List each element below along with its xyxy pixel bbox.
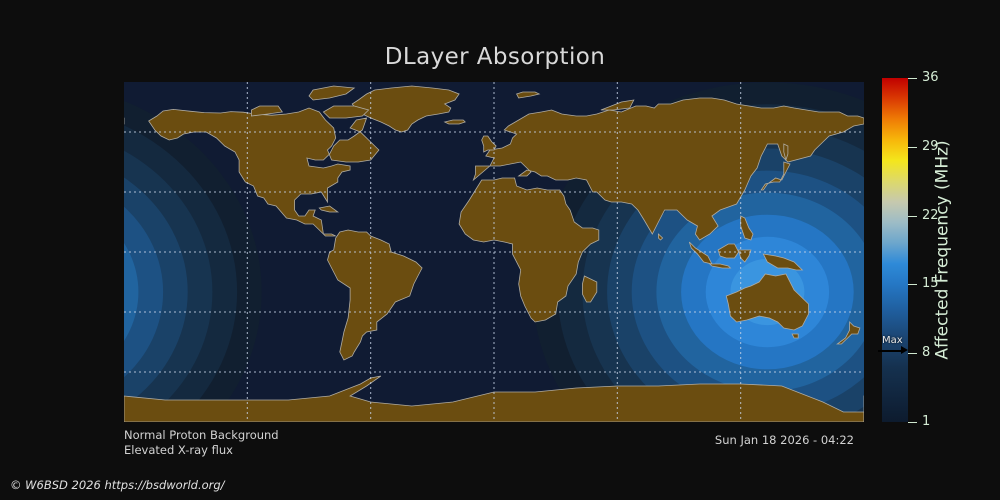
colorbar-gradient (882, 78, 908, 422)
colorbar-axis-label-text: Affected Frequency (MHz) (933, 140, 953, 359)
colorbar-tick (908, 78, 917, 79)
world-map-panel[interactable] (124, 82, 864, 422)
colorbar-tick (908, 284, 917, 285)
colorbar-tick (908, 422, 917, 423)
max-marker-label: Max (868, 336, 908, 346)
timestamp: Sun Jan 18 2026 - 04:22 (0, 433, 854, 447)
colorbar[interactable]: 1815222936 Max (882, 78, 908, 422)
world-map (124, 82, 864, 422)
copyright-icon: © (10, 478, 22, 492)
landmass-baffin (323, 106, 368, 118)
colorbar-axis-label: Affected Frequency (MHz) (930, 78, 956, 422)
colorbar-tick (908, 147, 917, 148)
footer-text: W6BSD 2026 https://bsdworld.org/ (25, 478, 224, 492)
max-marker: Max (868, 336, 908, 355)
colorbar-tick (908, 216, 917, 217)
max-marker-arrow (868, 346, 908, 355)
footer-credit: © W6BSD 2026 https://bsdworld.org/ (10, 478, 225, 492)
page-title: DLayer Absorption (0, 44, 990, 70)
dlayer-absorption-screen: DLayer Absorption (0, 0, 1000, 500)
colorbar-tick (908, 353, 917, 354)
